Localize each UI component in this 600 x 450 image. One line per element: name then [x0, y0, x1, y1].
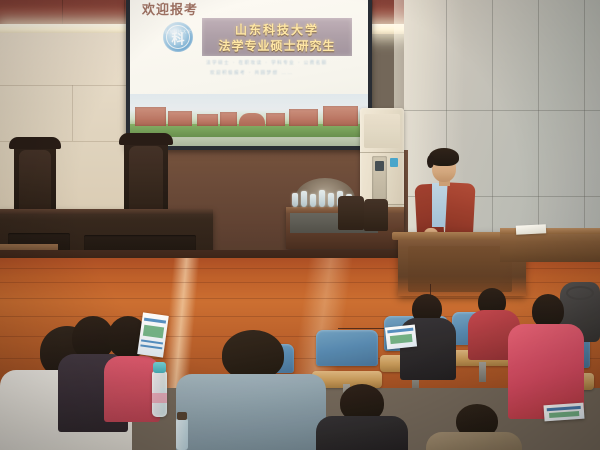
water-bottle — [152, 371, 167, 417]
screen-surface: 欢迎报考 山东科技大学 科 山东科技大学 法学专业硕士研究生 法学硕士 · 在职… — [130, 0, 368, 146]
brochure — [543, 403, 584, 422]
student-pink-jacket — [508, 294, 584, 414]
projection-screen[interactable]: 欢迎报考 山东科技大学 科 山东科技大学 法学专业硕士研究生 法学硕士 · 在职… — [126, 0, 372, 150]
welcome-banner-text: 欢迎报考 — [142, 0, 198, 19]
slide-subtitle-line2: 欢迎积极报考 · 共圆梦想 …… — [210, 70, 293, 76]
papers-on-desk — [516, 224, 546, 235]
presenter-hair — [429, 148, 459, 166]
seal-center-mark: 科 — [171, 28, 184, 47]
stage-chair-a — [338, 196, 364, 230]
side-desk — [500, 228, 600, 262]
ac-display-icon — [375, 161, 384, 171]
student-grey-jacket — [176, 330, 326, 450]
stage-chair-b — [364, 199, 388, 231]
brochure — [385, 324, 417, 349]
judge-chair-left — [14, 146, 56, 212]
judge-chair-right — [124, 142, 168, 212]
slide-title-line2: 法学专业硕士研究生 — [202, 37, 352, 54]
lecture-hall-photo: 欢迎报考 山东科技大学 科 山东科技大学 法学专业硕士研究生 法学硕士 · 在职… — [0, 0, 600, 450]
slide-title-line1: 山东科技大学 — [202, 21, 352, 38]
university-seal-icon: 山东科技大学 科 — [163, 22, 193, 52]
student-beige-coat — [426, 404, 522, 450]
student-black-jacket — [316, 384, 408, 450]
slide-subtitle-line1: 法学硕士 · 在职攻读 · 学科专业 · 公费名额 — [206, 60, 328, 66]
slide-title-plate: 山东科技大学 法学专业硕士研究生 — [202, 18, 352, 56]
water-bottle — [176, 418, 188, 450]
